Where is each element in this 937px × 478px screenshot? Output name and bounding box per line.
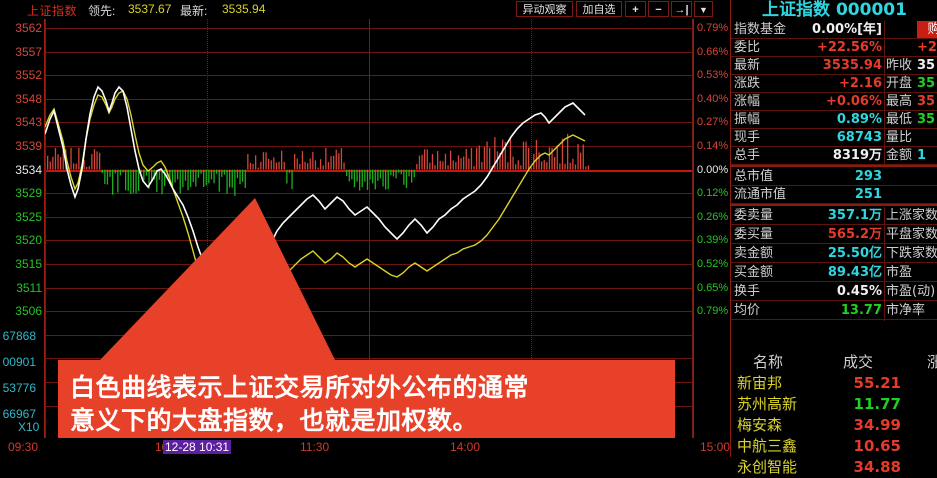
quote-value: 251 bbox=[789, 186, 882, 204]
price-tick: 3543 bbox=[2, 116, 42, 128]
volume-bar bbox=[575, 165, 576, 170]
quote-label: 涨跌 bbox=[734, 75, 760, 93]
time-tick: 11:30 bbox=[300, 440, 329, 454]
volume-bar bbox=[510, 137, 511, 170]
chevron-down-icon[interactable]: ▼ bbox=[694, 1, 713, 17]
volume-bar bbox=[299, 164, 300, 170]
lead-value: 3537.67 bbox=[128, 2, 171, 16]
volume-bar bbox=[447, 165, 448, 169]
quote-row: 指数基金0.00%[年] bbox=[731, 21, 937, 39]
quote-value: 0.00%[年] bbox=[789, 21, 882, 39]
price-tick: 3511 bbox=[2, 282, 42, 294]
quote-row: 最新3535.94昨收35 bbox=[731, 57, 937, 75]
volume-bar bbox=[60, 157, 61, 170]
volume-bar bbox=[421, 155, 422, 170]
volume-bar bbox=[263, 152, 264, 170]
volume-bar bbox=[107, 170, 108, 185]
stock-name: 梅安森 bbox=[737, 415, 782, 436]
stock-price: 55.21 bbox=[831, 373, 901, 394]
volume-bar bbox=[286, 170, 287, 184]
volume-bar bbox=[73, 163, 74, 169]
volume-bar bbox=[291, 170, 292, 190]
volume-bar bbox=[567, 134, 568, 170]
quote-value: 565.2万 bbox=[789, 226, 882, 244]
volume-bar bbox=[161, 170, 162, 195]
quote-value: 13.77 bbox=[789, 302, 882, 320]
volume-bar bbox=[557, 145, 558, 169]
volume-tick: 67868 bbox=[0, 330, 36, 342]
volume-bar bbox=[276, 163, 277, 170]
volume-bar bbox=[367, 170, 368, 190]
price-tick: 3562 bbox=[2, 22, 42, 34]
volume-bar bbox=[473, 166, 474, 170]
quote-row: 流通市值251 bbox=[731, 186, 937, 204]
volume-bar bbox=[588, 166, 589, 170]
quote-value-2: 35 bbox=[917, 93, 937, 111]
volume-bar bbox=[174, 170, 175, 183]
volume-bar bbox=[278, 162, 279, 170]
volume-bar bbox=[369, 170, 370, 180]
volume-bar bbox=[336, 150, 337, 170]
volume-bar bbox=[284, 162, 285, 170]
volume-bar bbox=[289, 170, 290, 173]
volume-bar bbox=[177, 170, 178, 180]
volume-bar bbox=[122, 170, 123, 173]
price-tick: 3534 bbox=[2, 164, 42, 176]
quote-value-2: 35 bbox=[917, 57, 937, 75]
volume-bar bbox=[554, 157, 555, 170]
volume-bar bbox=[580, 153, 581, 170]
volume-bar bbox=[450, 151, 451, 170]
volume-bar bbox=[481, 162, 482, 170]
abnormal-watch-button[interactable]: 异动观察 bbox=[516, 1, 573, 17]
volume-bar bbox=[320, 159, 321, 169]
volume-bar bbox=[226, 170, 227, 194]
quote-label-2: 市盈(动) bbox=[886, 283, 935, 301]
stock-price: 10.65 bbox=[831, 436, 901, 457]
quote-label-2: 市盈 bbox=[886, 264, 912, 282]
quote-label-2: 量比 bbox=[886, 129, 912, 147]
volume-bar bbox=[419, 156, 420, 170]
quote-row: 涨幅+0.06%最高35 bbox=[731, 93, 937, 111]
volume-bar bbox=[255, 155, 256, 169]
col-change: 涨 bbox=[927, 352, 937, 372]
volume-bar bbox=[468, 159, 469, 170]
volume-bar bbox=[317, 168, 318, 170]
stock-price: 34.99 bbox=[831, 415, 901, 436]
quote-label-2: 最高 bbox=[886, 93, 912, 111]
quote-row: 换手0.45%市盈(动) bbox=[731, 283, 937, 301]
volume-bar bbox=[221, 170, 222, 177]
volume-bar bbox=[507, 162, 508, 169]
volume-bar bbox=[564, 164, 565, 170]
volume-bar bbox=[200, 170, 201, 174]
volume-bar bbox=[143, 170, 144, 181]
volume-bar bbox=[247, 154, 248, 170]
volume-bar bbox=[471, 148, 472, 170]
last-value: 3535.94 bbox=[222, 2, 265, 16]
quote-row: 现手68743量比 bbox=[731, 129, 937, 147]
last-label: 最新: bbox=[180, 2, 207, 19]
quote-value-2: 1 bbox=[917, 147, 937, 165]
quote-row: 总市值293 bbox=[731, 168, 937, 186]
volume-bar bbox=[89, 166, 90, 169]
volume-bar bbox=[120, 170, 121, 176]
volume-bar bbox=[239, 170, 240, 185]
volume-bar bbox=[453, 161, 454, 170]
volume-bar bbox=[195, 170, 196, 187]
volume-bar bbox=[427, 149, 428, 169]
volume-bar bbox=[76, 164, 77, 170]
quote-value-2: 35 bbox=[917, 111, 937, 129]
volume-bar bbox=[570, 163, 571, 170]
volume-bar bbox=[515, 164, 516, 169]
volume-bar bbox=[463, 157, 464, 170]
volume-bar bbox=[380, 170, 381, 179]
volume-bar bbox=[182, 170, 183, 188]
trading-terminal-screen: 上证指数 领先: 3537.67 最新: 3535.94 异动观察 加自选 + … bbox=[0, 0, 937, 457]
volume-bar bbox=[310, 159, 311, 170]
volume-bar bbox=[388, 170, 389, 190]
volume-bar bbox=[583, 145, 584, 170]
volume-bar bbox=[102, 170, 103, 173]
volume-bar bbox=[502, 140, 503, 170]
quote-value-2: 35 bbox=[917, 75, 937, 93]
volume-bar bbox=[406, 170, 407, 188]
volume-bar bbox=[466, 149, 467, 170]
volume-tick: 53776 bbox=[0, 382, 36, 394]
volume-bar bbox=[362, 170, 363, 188]
volume-bar bbox=[237, 170, 238, 179]
quote-label: 委比 bbox=[734, 39, 760, 57]
volume-bar bbox=[424, 149, 425, 169]
divider bbox=[884, 207, 885, 321]
quote-label: 涨幅 bbox=[734, 93, 760, 111]
volume-bar bbox=[486, 142, 487, 170]
volume-bar bbox=[193, 170, 194, 182]
volume-bar bbox=[356, 170, 357, 182]
crosshair-time-label: 12-28 10:31 bbox=[163, 440, 231, 454]
volume-bar bbox=[273, 157, 274, 169]
volume-bar bbox=[94, 149, 95, 170]
quote-label-2: 上涨家数 bbox=[886, 207, 937, 225]
quote-label: 换手 bbox=[734, 283, 760, 301]
volume-bar bbox=[115, 170, 116, 174]
volume-bar bbox=[559, 163, 560, 169]
list-item[interactable]: 梅安森34.99 bbox=[731, 415, 937, 436]
volume-bar bbox=[57, 154, 58, 169]
volume-bar bbox=[549, 147, 550, 169]
volume-bar bbox=[541, 161, 542, 169]
volume-bar bbox=[489, 148, 490, 170]
quote-label: 总市值 bbox=[734, 168, 773, 186]
volume-tick: 00901 bbox=[0, 356, 36, 368]
col-name: 名称 bbox=[753, 352, 783, 372]
quote-label-2: 平盘家数 bbox=[886, 226, 937, 244]
quote-title: 上证指数 000001 bbox=[731, 0, 937, 20]
volume-bar bbox=[351, 170, 352, 180]
volume-bar bbox=[304, 162, 305, 170]
quote-label-2: 最低 bbox=[886, 111, 912, 129]
volume-bar bbox=[117, 170, 118, 193]
volume-bar bbox=[375, 170, 376, 190]
volume-bar bbox=[91, 154, 92, 170]
quote-row: 均价13.77市净率 bbox=[731, 302, 937, 320]
quote-label: 总手 bbox=[734, 147, 760, 165]
volume-bar bbox=[187, 170, 188, 191]
quote-value: 3535.94 bbox=[789, 57, 882, 75]
volume-multiplier: X10 bbox=[18, 420, 39, 434]
volume-bar bbox=[408, 170, 409, 177]
quote-label: 买金额 bbox=[734, 264, 773, 282]
volume-bar bbox=[294, 154, 295, 170]
volume-bar bbox=[577, 144, 578, 170]
volume-bar bbox=[411, 170, 412, 183]
volume-bar bbox=[219, 170, 220, 192]
volume-bar bbox=[99, 153, 100, 170]
volume-bar bbox=[538, 153, 539, 170]
quote-row: 振幅0.89%最低35 bbox=[731, 111, 937, 129]
volume-bar bbox=[572, 159, 573, 170]
price-tick: 3515 bbox=[2, 258, 42, 270]
quote-row: 总手8319万金额1 bbox=[731, 147, 937, 165]
col-price: 成交 bbox=[843, 352, 873, 372]
price-tick: 3525 bbox=[2, 211, 42, 223]
quote-label: 振幅 bbox=[734, 111, 760, 129]
volume-bar bbox=[414, 170, 415, 178]
volume-bar bbox=[341, 148, 342, 170]
volume-bar bbox=[125, 170, 126, 191]
time-tick: 14:00 bbox=[450, 440, 480, 454]
quote-value: +22.56% bbox=[789, 39, 882, 57]
volume-bar bbox=[401, 170, 402, 175]
quote-label: 最新 bbox=[734, 57, 760, 75]
add-favorite-button[interactable]: 加自选 bbox=[576, 1, 622, 17]
volume-bar bbox=[544, 160, 545, 170]
volume-bar bbox=[333, 156, 334, 170]
volume-bar bbox=[211, 170, 212, 180]
volume-bar bbox=[109, 170, 110, 177]
volume-bar bbox=[382, 170, 383, 187]
volume-bar bbox=[104, 170, 105, 184]
divider bbox=[731, 165, 937, 167]
volume-bar bbox=[432, 154, 433, 170]
quote-row: 委卖量357.1万上涨家数 bbox=[731, 207, 937, 225]
quote-row: 委买量565.2万平盘家数 bbox=[731, 226, 937, 244]
volume-bar bbox=[518, 160, 519, 169]
volume-bar bbox=[349, 170, 350, 182]
volume-bar bbox=[330, 156, 331, 170]
chart-pane: 上证指数 领先: 3537.67 最新: 3535.94 异动观察 加自选 + … bbox=[0, 0, 730, 457]
volume-bar bbox=[232, 170, 233, 188]
price-curves bbox=[45, 19, 693, 438]
volume-bar bbox=[315, 160, 316, 169]
volume-tick: 66967 bbox=[0, 408, 36, 420]
volume-bar bbox=[460, 158, 461, 170]
volume-bar bbox=[268, 159, 269, 170]
list-item[interactable]: 中航三鑫10.65 bbox=[731, 436, 937, 457]
list-item[interactable]: 苏州高新11.77 bbox=[731, 394, 937, 415]
quote-label: 委买量 bbox=[734, 226, 773, 244]
stock-name: 苏州高新 bbox=[737, 394, 797, 415]
volume-bar bbox=[546, 162, 547, 169]
quote-label: 均价 bbox=[734, 302, 760, 320]
volume-bar bbox=[359, 170, 360, 191]
quote-value: +2.16 bbox=[789, 75, 882, 93]
time-tick: 09:30 bbox=[8, 440, 38, 454]
volume-bar bbox=[297, 159, 298, 170]
zoom-out-icon[interactable]: − bbox=[648, 1, 669, 17]
volume-bar bbox=[442, 161, 443, 169]
volume-bar bbox=[50, 162, 51, 170]
volume-bar bbox=[208, 170, 209, 184]
volume-bar bbox=[479, 146, 480, 170]
quote-label: 指数基金 bbox=[734, 21, 786, 39]
volume-bar bbox=[520, 165, 521, 169]
volume-bar bbox=[323, 165, 324, 169]
stock-name: 新宙邦 bbox=[737, 373, 782, 394]
volume-bar bbox=[346, 170, 347, 177]
volume-bar bbox=[512, 157, 513, 170]
volume-bar bbox=[455, 162, 456, 170]
volume-bar bbox=[585, 167, 586, 170]
quote-value: 8319万 bbox=[789, 147, 882, 165]
volume-bar bbox=[250, 163, 251, 170]
volume-bar bbox=[260, 162, 261, 170]
quote-label-2: 金额 bbox=[886, 147, 912, 165]
volume-bar bbox=[390, 170, 391, 176]
list-item[interactable]: 新宙邦55.21 bbox=[731, 373, 937, 394]
quote-label-2: 市净率 bbox=[886, 302, 925, 320]
volume-bar bbox=[484, 147, 485, 170]
quote-label: 卖金额 bbox=[734, 245, 773, 263]
volume-bar bbox=[434, 165, 435, 169]
volume-bar bbox=[245, 170, 246, 188]
volume-bar bbox=[130, 170, 131, 194]
price-tick: 3506 bbox=[2, 305, 42, 317]
chart-index-name: 上证指数 bbox=[27, 2, 77, 19]
volume-bar bbox=[302, 151, 303, 170]
quote-label: 流通市值 bbox=[734, 186, 786, 204]
volume-bar bbox=[258, 168, 259, 170]
quote-label-2: 下跌家数 bbox=[886, 245, 937, 263]
volume-bar bbox=[523, 142, 524, 170]
quote-value-2: +208 bbox=[917, 39, 937, 57]
volume-bar bbox=[338, 153, 339, 169]
quote-value: 68743 bbox=[789, 129, 882, 147]
zoom-in-icon[interactable]: + bbox=[625, 1, 646, 17]
lead-label: 领先: bbox=[88, 2, 115, 19]
volume-bar bbox=[343, 163, 344, 170]
volume-bar bbox=[128, 170, 129, 191]
volume-bar bbox=[398, 170, 399, 173]
quote-label-2: 昨收 bbox=[886, 57, 912, 75]
volume-bar bbox=[364, 170, 365, 182]
quote-value: 357.1万 bbox=[789, 207, 882, 225]
quote-value: +0.06% bbox=[789, 93, 882, 111]
stock-list-header: 名称 成交 涨 bbox=[731, 352, 937, 372]
volume-bar bbox=[437, 151, 438, 170]
time-tick: 15:00 bbox=[700, 440, 730, 454]
volume-bar bbox=[229, 170, 230, 188]
quote-label: 现手 bbox=[734, 129, 760, 147]
volume-bar bbox=[198, 170, 199, 178]
stock-name: 中航三鑫 bbox=[737, 436, 797, 457]
price-tick: 3520 bbox=[2, 234, 42, 246]
volume-bar bbox=[70, 148, 71, 170]
volume-bar bbox=[133, 170, 134, 193]
divider bbox=[884, 21, 885, 165]
quote-row: 买金额89.43亿市盈 bbox=[731, 264, 937, 282]
volume-bar bbox=[185, 170, 186, 181]
quote-row: 卖金额25.50亿下跌家数 bbox=[731, 245, 937, 263]
volume-bar bbox=[138, 170, 139, 191]
quote-row: 涨跌+2.16开盘35 bbox=[731, 75, 937, 93]
stock-price: 34.88 bbox=[831, 457, 901, 478]
volume-bar bbox=[372, 170, 373, 184]
volume-bar bbox=[234, 170, 235, 196]
chart-header: 上证指数 领先: 3537.67 最新: 3535.94 异动观察 加自选 + … bbox=[0, 0, 730, 19]
volume-bar bbox=[445, 154, 446, 170]
volume-bar bbox=[271, 160, 272, 169]
volume-bar bbox=[112, 170, 113, 195]
volume-bar bbox=[180, 170, 181, 194]
jump-to-end-icon[interactable]: →| bbox=[671, 1, 692, 17]
volume-bar bbox=[312, 152, 313, 170]
volume-bar bbox=[525, 142, 526, 170]
stock-price: 11.77 bbox=[831, 394, 901, 415]
intraday-plot[interactable] bbox=[44, 19, 694, 438]
price-tick: 3548 bbox=[2, 93, 42, 105]
quote-label: 委卖量 bbox=[734, 207, 773, 225]
price-tick: 3552 bbox=[2, 69, 42, 81]
volume-bar bbox=[476, 148, 477, 170]
volume-bar bbox=[377, 170, 378, 181]
volume-bar bbox=[52, 157, 53, 170]
volume-bar bbox=[429, 163, 430, 170]
volume-bar bbox=[55, 148, 56, 170]
volume-bar bbox=[307, 163, 308, 169]
volume-bar bbox=[206, 170, 207, 186]
volume-bar bbox=[458, 155, 459, 169]
volume-bar bbox=[86, 167, 87, 170]
volume-bar bbox=[416, 164, 417, 170]
volume-bar bbox=[213, 170, 214, 184]
volume-bar bbox=[354, 170, 355, 188]
price-tick: 3557 bbox=[2, 46, 42, 58]
volume-bar bbox=[281, 151, 282, 170]
volume-bar bbox=[252, 164, 253, 170]
list-item[interactable]: 永创智能34.88 bbox=[731, 457, 937, 478]
volume-bar bbox=[216, 170, 217, 174]
divider bbox=[731, 204, 937, 206]
volume-bar bbox=[96, 151, 97, 169]
volume-bar bbox=[395, 170, 396, 179]
quote-value: 0.45% bbox=[789, 283, 882, 301]
volume-bar bbox=[403, 170, 404, 185]
quote-value: 25.50亿 bbox=[789, 245, 882, 263]
price-tick: 3539 bbox=[2, 140, 42, 152]
quote-value: 0.89% bbox=[789, 111, 882, 129]
volume-bar bbox=[78, 148, 79, 170]
quote-label-2: 开盘 bbox=[886, 75, 912, 93]
volume-bar bbox=[325, 148, 326, 170]
volume-bar bbox=[393, 170, 394, 177]
volume-bar bbox=[159, 170, 160, 180]
average-price-curve bbox=[45, 91, 585, 315]
volume-bar bbox=[190, 170, 191, 187]
volume-bar bbox=[135, 170, 136, 194]
